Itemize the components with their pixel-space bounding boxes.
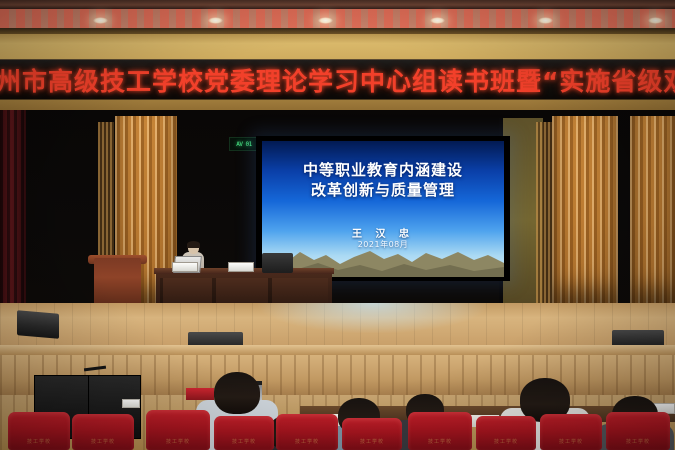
- audience-chair: 技工学校: [72, 414, 134, 450]
- attendee-white-shirt-head: [214, 372, 260, 414]
- stage-monitor-speaker: [17, 310, 59, 339]
- stage-led-status-text: AV 01: [236, 141, 252, 148]
- chair-back-text: 技工学校: [476, 438, 536, 445]
- chair-back-text: 技工学校: [146, 438, 210, 445]
- chair-back-text: 技工学校: [214, 438, 274, 445]
- audience-chair: 技工学校: [276, 414, 338, 450]
- audience-chair: 技工学校: [606, 412, 670, 450]
- nameplate-right: [228, 262, 254, 272]
- head-table-front-panel: [160, 278, 328, 306]
- audience-chair: 技工学校: [408, 412, 472, 450]
- chair-back-text: 技工学校: [342, 438, 402, 445]
- ceiling-downlight: [318, 17, 333, 24]
- ceiling-downlight: [430, 17, 445, 24]
- led-banner: 州市高级技工学校党委理论学习中心组读书班暨“实施省级双高建设，打造全: [0, 59, 675, 100]
- av-equipment-box: [262, 253, 293, 273]
- projection-screen: 中等职业教育内涵建设 改革创新与质量管理 王 汉 忠 2021年08月: [262, 141, 504, 277]
- ceiling-downlight: [538, 17, 553, 24]
- ceiling-downlight: [648, 17, 663, 24]
- slide-title-line-1: 中等职业教育内涵建设: [262, 160, 504, 180]
- stage-podium: [94, 258, 141, 306]
- ceiling-downlight: [93, 17, 108, 24]
- seated-speaker-hair: [187, 241, 200, 248]
- chair-back-text: 技工学校: [606, 438, 670, 445]
- red-placard: [186, 388, 214, 400]
- gold-curtain-right: [552, 116, 618, 306]
- audience-chair: 技工学校: [214, 416, 274, 450]
- red-side-curtain: [0, 110, 26, 306]
- chair-back-text: 技工学校: [408, 438, 472, 445]
- auditorium-photo: 州市高级技工学校党委理论学习中心组读书班暨“实施省级双高建设，打造全 AV 01…: [0, 0, 675, 450]
- name-placard: [122, 399, 140, 408]
- slide-author: 王 汉 忠: [262, 225, 504, 240]
- led-banner-text: 州市高级技工学校党委理论学习中心组读书班暨“实施省级双高建设，打造全: [0, 62, 675, 98]
- slide-title-line-2: 改革创新与质量管理: [262, 180, 504, 200]
- chair-back-text: 技工学校: [72, 438, 134, 445]
- stage-led-status-panel: AV 01: [229, 137, 259, 151]
- slide-title: 中等职业教育内涵建设 改革创新与质量管理: [262, 160, 504, 200]
- led-banner-frame: 州市高级技工学校党委理论学习中心组读书班暨“实施省级双高建设，打造全: [0, 28, 675, 113]
- stage-light-glow: [258, 303, 488, 333]
- chair-back-text: 技工学校: [8, 438, 70, 445]
- chair-back-text: 技工学校: [276, 438, 338, 445]
- ceiling-beam: [0, 0, 675, 9]
- gold-curtain-far-right: [630, 116, 675, 306]
- audience-chair: 技工学校: [146, 410, 210, 450]
- audience-chair: 技工学校: [476, 416, 536, 450]
- chair-back-text: 技工学校: [540, 438, 602, 445]
- audience-chair: 技工学校: [8, 412, 70, 450]
- audience-chair: 技工学校: [342, 418, 402, 450]
- thin-curtain-right: [536, 122, 552, 304]
- ceiling-downlight: [208, 17, 223, 24]
- audience-chair: 技工学校: [540, 414, 602, 450]
- stage-edge: [0, 345, 675, 355]
- nameplate-left: [172, 262, 198, 272]
- slide-date: 2021年08月: [262, 239, 504, 250]
